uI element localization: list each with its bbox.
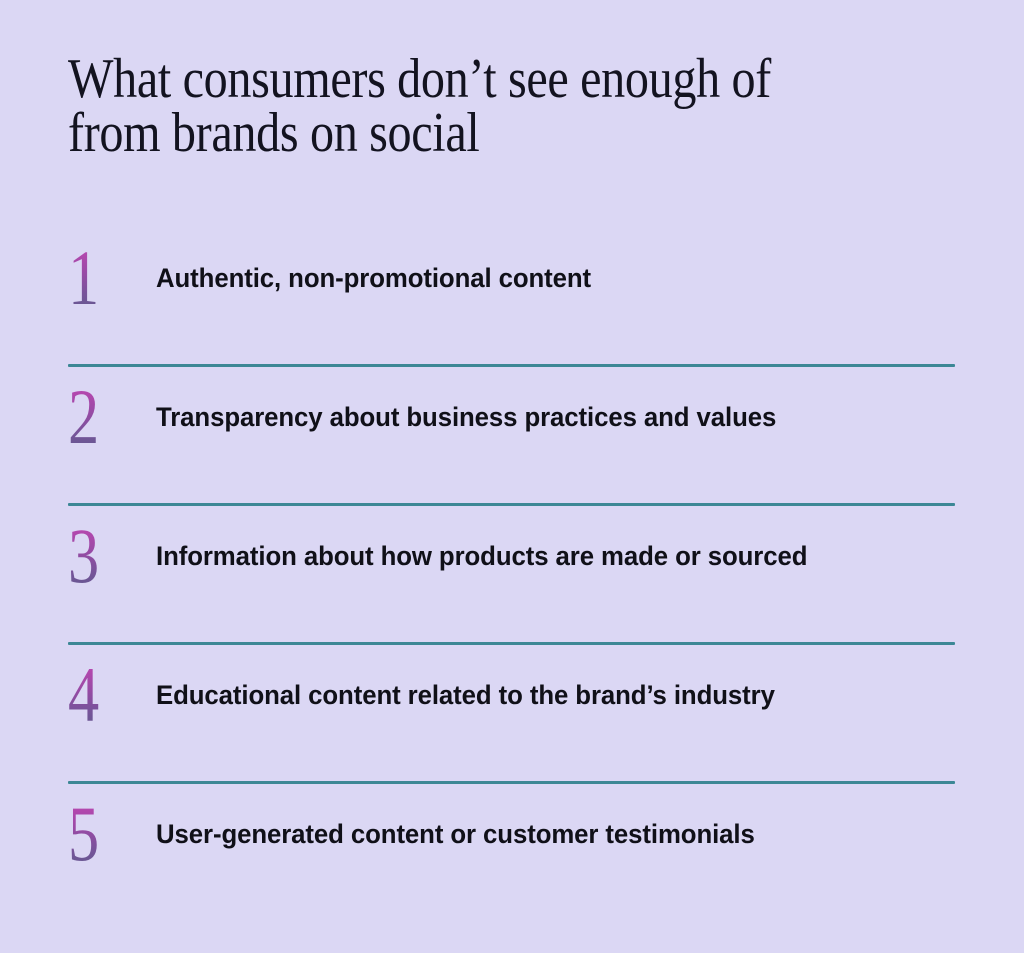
list-item-row: 5 User-generated content or customer tes… [68,784,956,884]
list-item: 1 Authentic, non-promotional content [0,228,1024,367]
list-item-row: 2 Transparency about business practices … [68,367,956,467]
list-item-row: 1 Authentic, non-promotional content [68,228,956,328]
infographic-card: What consumers don’t see enough of from … [0,0,1024,953]
ranked-list: 1 Authentic, non-promotional content 2 T… [0,228,1024,923]
title-block: What consumers don’t see enough of from … [68,52,958,160]
list-item-row: 3 Information about how products are mad… [68,506,956,606]
list-item-row: 4 Educational content related to the bra… [68,645,956,745]
list-item: 5 User-generated content or customer tes… [0,784,1024,923]
page-title: What consumers don’t see enough of from … [68,52,833,160]
list-item: 2 Transparency about business practices … [0,367,1024,506]
list-item: 3 Information about how products are mad… [0,506,1024,645]
list-item-label: Educational content related to the brand… [156,679,920,711]
list-item-number: 4 [68,656,138,734]
list-item-number: 1 [68,239,138,317]
list-item: 4 Educational content related to the bra… [0,645,1024,784]
list-item-label: Information about how products are made … [156,540,920,572]
list-item-number: 3 [68,517,138,595]
list-item-label: Transparency about business practices an… [156,401,920,433]
list-item-label: Authentic, non-promotional content [156,262,920,294]
list-item-number: 5 [68,795,138,873]
list-item-label: User-generated content or customer testi… [156,818,920,850]
list-item-number: 2 [68,378,138,456]
